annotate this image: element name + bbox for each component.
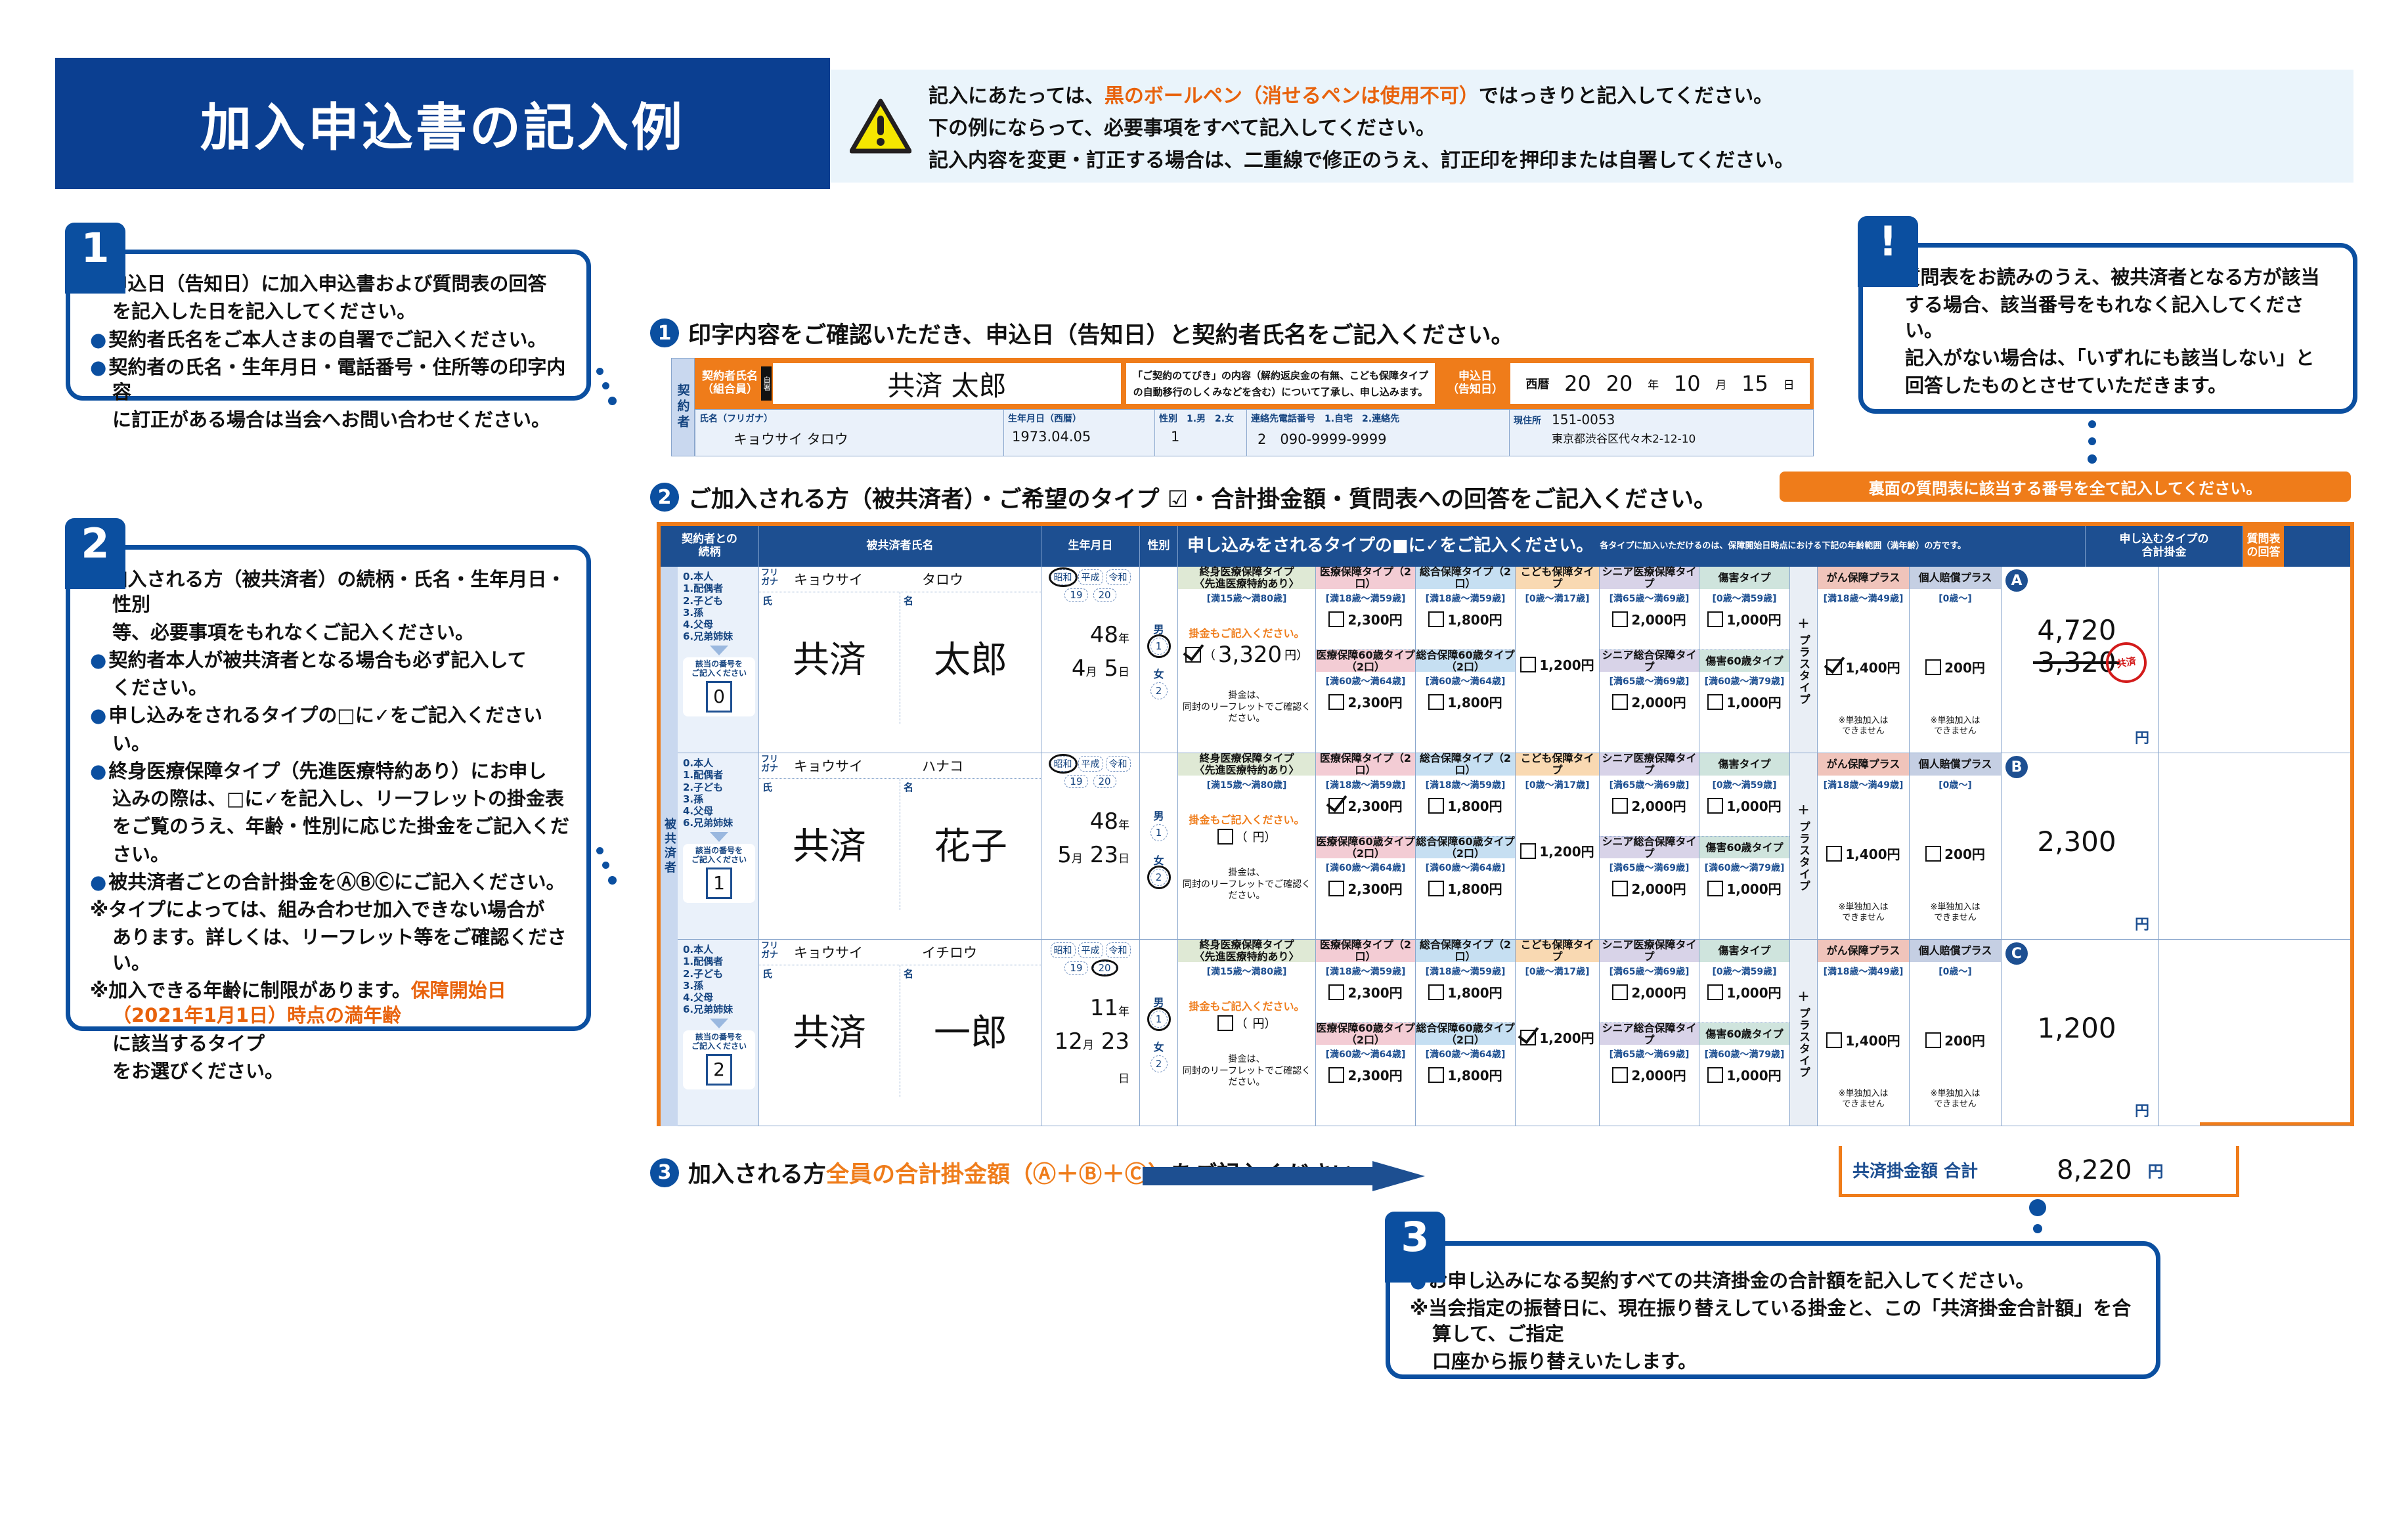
arrow-down-icon — [710, 1019, 728, 1028]
contractor-dob-label: 生年月日（西暦） — [1008, 412, 1150, 425]
row-badge: A — [2005, 569, 2028, 592]
premium-row[interactable]: 1,000円 — [1707, 609, 1781, 628]
type-column-個人賠償プラス[interactable]: 個人賠償プラス [0歳〜] 200円 ※単独加入はできません — [1910, 940, 2002, 1126]
table-row: 0.本人1.配偶者2.子ども3.孫4.父母6.兄弟姉妹 該当の番号を ご記入くだ… — [678, 940, 2350, 1126]
age-range: [満18歳〜満59歳] — [1426, 778, 1506, 791]
contractor-sex-label: 性別 1.男 2.女 — [1159, 412, 1242, 425]
premium-checkbox-60[interactable] — [1428, 694, 1444, 710]
section-1-number: 1 — [650, 318, 679, 347]
premium-checkbox-60[interactable] — [1428, 881, 1444, 896]
type-header-60: 総合保障60歳タイプ（2口） — [1416, 1022, 1515, 1045]
premium-row[interactable]: 2,000円 — [1612, 796, 1686, 815]
premium-amount: 2,000円 — [1631, 796, 1686, 815]
sex-cell[interactable]: 男 1 女 2 — [1140, 940, 1178, 1126]
premium-checkbox[interactable] — [1707, 984, 1723, 1000]
premium-checkbox[interactable] — [1428, 984, 1444, 1000]
premium-checkbox[interactable] — [1925, 659, 1941, 675]
premium-row-60[interactable]: 1,800円 — [1428, 692, 1502, 711]
shinshin-checkbox-row[interactable]: （ 3,320 円） — [1178, 642, 1315, 668]
premium-entry-note: 掛金もご記入ください。 — [1178, 811, 1315, 827]
premium-row[interactable]: 1,800円 — [1428, 796, 1502, 815]
premium-checkbox-60[interactable] — [1328, 694, 1344, 710]
age-range: [満18歳〜満59歳] — [1326, 778, 1406, 791]
callout-2-number: 2 — [65, 518, 125, 589]
given-name-label: 名 — [904, 780, 913, 794]
premium-row[interactable]: 2,300円 — [1328, 796, 1402, 815]
warning-triangle-icon — [850, 99, 911, 154]
premium-row[interactable]: 1,800円 — [1428, 609, 1502, 628]
type-upper: [満18歳〜満59歳] 1,800円 — [1416, 776, 1515, 836]
name-cell[interactable]: フリガナ キョウサイ イチロウ 氏 共済 名 一郎 — [759, 940, 1041, 1126]
relation-option-4: 4.父母 — [683, 619, 755, 630]
relation-caption-1: 該当の番号を — [686, 846, 753, 855]
era-option-平成[interactable]: 平成 — [1078, 942, 1103, 958]
type-column-シニア医療保障タイプ[interactable]: シニア医療保障タイプ [満65歳〜満69歳] 2,000円 シニア総合保障タイプ… — [1600, 567, 1699, 753]
shinshin-checkbox[interactable] — [1217, 829, 1233, 845]
premium-row[interactable]: 200円 — [1925, 844, 1985, 863]
premium-checkbox-60[interactable] — [1428, 1067, 1444, 1083]
premium-row[interactable]: 2,000円 — [1612, 609, 1686, 628]
surname-label: 氏 — [762, 594, 772, 607]
age-range-60: [満65歳〜満69歳] — [1609, 861, 1690, 874]
contractor-phone-label: 連絡先電話番号 1.自宅 2.連絡先 — [1251, 412, 1505, 425]
premium-amount: 2,000円 — [1631, 982, 1686, 1001]
single-join-note: ※単独加入はできません — [1839, 1089, 1889, 1113]
single-join-note: ※単独加入はできません — [1931, 1089, 1981, 1113]
section-3-heading-b: 全員の合計掛金額（Ⓐ＋Ⓑ＋Ⓒ） — [826, 1162, 1171, 1188]
grand-total-value: 8,220 — [2057, 1155, 2132, 1185]
premium-row-60[interactable]: 2,000円 — [1612, 692, 1686, 711]
row-total-handwritten: 1,200 — [2002, 1012, 2152, 1044]
apply-year-1: 20 — [1564, 371, 1591, 396]
premium-checkbox[interactable] — [1826, 659, 1842, 675]
callout-2-line-4: 申し込みをされるタイプの□に✓をご記入ください — [90, 703, 569, 728]
type-column-終身医療保障タイプ[interactable]: 終身医療保障タイプ〈先進医療特約あり〉 [満15歳〜満80歳] 掛金もご記入くだ… — [1178, 940, 1316, 1126]
plus-sign: ＋ — [1798, 988, 1810, 1005]
type-column-こども保障タイプ[interactable]: こども保障タイプ [0歳〜満17歳] 1,200円 — [1516, 753, 1600, 939]
premium-row-60[interactable]: 1,000円 — [1707, 692, 1781, 711]
year-prefix-options[interactable]: 1920 — [1045, 775, 1136, 788]
premium-amount-60: 2,300円 — [1347, 692, 1402, 711]
age-range: [0歳〜] — [1938, 778, 1972, 791]
age-range: [満18歳〜満49歳] — [1824, 965, 1904, 978]
grand-total-yen: 円 — [2148, 1158, 2164, 1181]
premium-row[interactable]: 200円 — [1925, 657, 1985, 676]
row-total-cell[interactable]: B 2,300円 — [2002, 753, 2159, 939]
kana-row: フリガナ キョウサイ イチロウ — [759, 940, 1041, 965]
era-option-平成[interactable]: 平成 — [1078, 756, 1103, 772]
premium-row[interactable]: 1,400円 — [1826, 844, 1900, 863]
row-total-cell[interactable]: C 1,200円 — [2002, 940, 2159, 1126]
consent-text-box: 「ご契約のてびき」の内容（解約返戻金の有無、こども保障タイプ の自動移行のしくみ… — [1126, 363, 1435, 404]
type-header-60: 傷害60歳タイプ — [1699, 836, 1789, 858]
callout-1-line-3: 契約者の氏名・生年月日・電話番号・住所等の印字内容 — [90, 355, 569, 405]
age-range: [0歳〜満17歳] — [1525, 778, 1589, 791]
page-title: 加入申込書の記入例 — [200, 87, 685, 160]
premium-amount: 1,800円 — [1447, 796, 1502, 815]
callout-3-line-0: お申し込みになる契約すべての共済掛金の合計額を記入してください。 — [1410, 1268, 2139, 1293]
apply-year-2: 20 — [1606, 371, 1633, 396]
premium-checkbox[interactable] — [1612, 984, 1628, 1000]
premium-entry-note: 掛金もご記入ください。 — [1178, 998, 1315, 1013]
section-2-heading-text: ご加入される方（被共済者）・ご希望のタイプ ☑・合計掛金額・質問表への回答をご記… — [688, 481, 1717, 514]
type-column-傷害タイプ[interactable]: 傷害タイプ [0歳〜満59歳] 1,000円 傷害60歳タイプ [満60歳〜満7… — [1699, 753, 1790, 939]
name-cell[interactable]: フリガナ キョウサイ タロウ 氏 共済 名 太郎 — [759, 567, 1041, 753]
age-range: [満18歳〜満59歳] — [1426, 965, 1506, 978]
type-column-こども保障タイプ[interactable]: こども保障タイプ [0歳〜満17歳] 1,200円 — [1516, 567, 1600, 753]
dob-cell[interactable]: 昭和平成令和 1920 11年 12月 23日 — [1041, 940, 1140, 1126]
sex-female-option[interactable]: 2 — [1150, 869, 1168, 886]
premium-row[interactable]: 200円 — [1925, 1030, 1985, 1049]
type-header-60: 総合保障60歳タイプ（2口） — [1416, 836, 1515, 858]
type-upper: [0歳〜満59歳] 1,000円 — [1699, 776, 1789, 836]
month-unit: 月 — [1715, 376, 1726, 392]
type-column-こども保障タイプ[interactable]: こども保障タイプ [0歳〜満17歳] 1,200円 — [1516, 940, 1600, 1126]
premium-checkbox[interactable] — [1707, 611, 1723, 627]
type-header: シニア医療保障タイプ — [1600, 567, 1699, 589]
premium-row[interactable]: 1,200円 — [1520, 841, 1594, 860]
era-options[interactable]: 昭和平成令和 — [1045, 756, 1136, 772]
type-column-シニア医療保障タイプ[interactable]: シニア医療保障タイプ [満65歳〜満69歳] 2,000円 シニア総合保障タイプ… — [1600, 940, 1699, 1126]
type-header: こども保障タイプ — [1516, 567, 1599, 589]
th-total: 申し込むタイプの合計掛金 — [2086, 526, 2243, 567]
era-option-令和[interactable]: 令和 — [1106, 942, 1131, 958]
type-lower: [満60歳〜満79歳] 1,000円 — [1699, 1045, 1789, 1126]
age-range: [0歳〜] — [1938, 592, 1972, 605]
surname-label: 氏 — [762, 967, 772, 980]
premium-row-60[interactable]: 1,800円 — [1428, 879, 1502, 898]
callout-3: 3 お申し込みになる契約すべての共済掛金の合計額を記入してください。 ※当会指定… — [1386, 1241, 2160, 1379]
premium-amount: 1,400円 — [1845, 657, 1900, 676]
type-column-終身医療保障タイプ[interactable]: 終身医療保障タイプ〈先進医療特約あり〉 [満15歳〜満80歳] 掛金もご記入くだ… — [1178, 567, 1316, 753]
year-prefix-19[interactable]: 19 — [1064, 775, 1087, 788]
given-name-field[interactable]: 名 太郎 — [900, 592, 1041, 724]
premium-checkbox-60[interactable] — [1707, 881, 1723, 896]
contractor-dob-cell: 生年月日（西暦） 1973.04.05 — [1004, 410, 1155, 456]
question-answer-cell[interactable] — [2159, 567, 2200, 753]
type-lower: [満60歳〜満79歳] 1,000円 — [1699, 858, 1789, 939]
type-body: [満18歳〜満49歳] 1,400円 ※単独加入はできません — [1818, 589, 1909, 753]
sex-cell[interactable]: 男 1 女 2 — [1140, 753, 1178, 939]
era-option-昭和[interactable]: 昭和 — [1051, 569, 1076, 585]
premium-checkbox[interactable] — [1328, 611, 1344, 627]
age-range: [0歳〜] — [1938, 965, 1972, 978]
premium-amount: 1,000円 — [1726, 982, 1781, 1001]
callout-2-line-10: 被共済者ごとの合計掛金をⒶⒷⒸにご記入ください。 — [90, 869, 569, 894]
premium-row-60[interactable]: 2,300円 — [1328, 879, 1402, 898]
premium-amount-60: 1,000円 — [1726, 1065, 1781, 1084]
premium-amount-60: 2,300円 — [1347, 879, 1402, 898]
year-prefix-19[interactable]: 19 — [1064, 961, 1087, 975]
row-total-cell[interactable]: A 4,720 3,320 共済 円 — [2002, 567, 2159, 753]
shinshin-footnote: 掛金は、同封のリーフレットでご確認ください。 — [1178, 867, 1315, 902]
type-column-がん保障プラス[interactable]: がん保障プラス [満18歳〜満49歳] 1,400円 ※単独加入はできません — [1818, 753, 1910, 939]
year-prefix-options[interactable]: 1920 — [1045, 961, 1136, 975]
paren-right: 円） — [1253, 828, 1277, 845]
premium-checkbox[interactable] — [1520, 657, 1536, 672]
year-prefix-20[interactable]: 20 — [1093, 775, 1116, 788]
shinshin-checkbox[interactable] — [1217, 1015, 1233, 1031]
sex-female-option[interactable]: 2 — [1150, 1055, 1168, 1072]
contractor-phone-cell: 連絡先電話番号 1.自宅 2.連絡先 2 090-9999-9999 — [1247, 410, 1510, 456]
premium-amount: 2,300円 — [1347, 796, 1402, 815]
callout-1: 1 申込日（告知日）に加入申込書および質問表の回答 を記入した日を記入してくださ… — [66, 250, 591, 401]
era-options[interactable]: 昭和平成令和 — [1045, 569, 1136, 585]
era-options[interactable]: 昭和平成令和 — [1045, 942, 1136, 958]
surname-field[interactable]: 氏 共済 — [759, 779, 900, 910]
premium-row[interactable]: 2,300円 — [1328, 982, 1402, 1001]
sex-female-label: 女 — [1153, 1038, 1164, 1054]
type-column-がん保障プラス[interactable]: がん保障プラス [満18歳〜満49歳] 1,400円 ※単独加入はできません — [1818, 940, 1910, 1126]
type-body: [0歳〜] 200円 ※単独加入はできません — [1910, 589, 2001, 753]
type-column-総合保障タイプ（2口）[interactable]: 総合保障タイプ（2口） [満18歳〜満59歳] 1,800円 総合保障60歳タイ… — [1416, 567, 1516, 753]
premium-checkbox[interactable] — [1612, 798, 1628, 814]
callout-2-line-11: ※タイプによっては、組み合わせ加入できない場合が — [90, 897, 569, 922]
type-header-60: シニア総合保障タイプ — [1600, 836, 1699, 858]
relation-cell: 0.本人1.配偶者2.子ども3.孫4.父母6.兄弟姉妹 該当の番号を ご記入くだ… — [678, 753, 759, 939]
premium-checkbox[interactable] — [1925, 846, 1941, 862]
premium-row-60[interactable]: 2,300円 — [1328, 1065, 1402, 1084]
sex-male-option[interactable]: 1 — [1150, 638, 1168, 655]
dob-handwritten: 48年 4月 5日 — [1045, 619, 1136, 686]
type-column-総合保障タイプ（2口）[interactable]: 総合保障タイプ（2口） [満18歳〜満59歳] 1,800円 総合保障60歳タイ… — [1416, 940, 1516, 1126]
sex-male-option[interactable]: 1 — [1150, 824, 1168, 841]
row-total-yen: 円 — [2135, 726, 2149, 747]
type-body: [0歳〜満17歳] 1,200円 — [1516, 776, 1599, 939]
kana-row: フリガナ キョウサイ ハナコ — [759, 753, 1041, 779]
type-column-個人賠償プラス[interactable]: 個人賠償プラス [0歳〜] 200円 ※単独加入はできません — [1910, 567, 2002, 753]
dob-cell[interactable]: 昭和平成令和 1920 48年 5月 23日 — [1041, 753, 1140, 939]
premium-amount: 2,000円 — [1631, 609, 1686, 628]
plus-type-label: プラスタイプ — [1795, 1007, 1812, 1078]
given-name-field[interactable]: 名 花子 — [900, 779, 1041, 910]
premium-checkbox[interactable] — [1612, 611, 1628, 627]
callout-2-line-8: をご覧のうえ、年齢・性別に応じた掛金をご記入くだ — [90, 814, 569, 839]
sex-female-option[interactable]: 2 — [1150, 682, 1168, 699]
dob-cell[interactable]: 昭和平成令和 1920 48年 4月 5日 — [1041, 567, 1140, 753]
type-body: [満18歳〜満49歳] 1,400円 ※単独加入はできません — [1818, 776, 1909, 939]
premium-row-60[interactable]: 2,300円 — [1328, 692, 1402, 711]
relation-option-5: 6.兄弟姉妹 — [683, 1003, 755, 1015]
single-join-note: ※単独加入はできません — [1931, 902, 1981, 927]
type-header-60: 総合保障60歳タイプ（2口） — [1416, 649, 1515, 672]
type-column-終身医療保障タイプ[interactable]: 終身医療保障タイプ〈先進医療特約あり〉 [満15歳〜満80歳] 掛金もご記入くだ… — [1178, 753, 1316, 939]
contractor-upper-row: 契約者氏名 （組合員） 自署 共済 太郎 「ご契約のてびき」の内容（解約返戻金の… — [695, 358, 1814, 409]
plus-sign: ＋ — [1798, 615, 1810, 632]
relation-option-4: 4.父母 — [683, 992, 755, 1003]
relation-caption-2: ご記入ください — [686, 1042, 753, 1051]
premium-checkbox[interactable] — [1520, 843, 1536, 859]
warning-band: 記入にあたっては、黒のボールペン（消せるペンは使用不可）ではっきりと記入してくだ… — [830, 70, 2353, 183]
shinshin-footnote: 掛金は、同封のリーフレットでご確認ください。 — [1178, 1054, 1315, 1089]
relation-option-2: 2.子ども — [683, 595, 755, 607]
surname-field[interactable]: 氏 共済 — [759, 592, 900, 724]
premium-row[interactable]: 1,000円 — [1707, 796, 1781, 815]
surname-value: 共済 — [759, 630, 900, 684]
type-column-傷害タイプ[interactable]: 傷害タイプ [0歳〜満59歳] 1,000円 傷害60歳タイプ [満60歳〜満7… — [1699, 940, 1790, 1126]
type-upper: [0歳〜満59歳] 1,000円 — [1699, 589, 1789, 649]
premium-amount-60: 2,300円 — [1347, 1065, 1402, 1084]
warn-l2: 下の例にならって、必要事項をすべて記入してください。 — [929, 112, 1794, 141]
premium-checkbox-60[interactable] — [1612, 1067, 1628, 1083]
premium-amount: 1,200円 — [1539, 655, 1594, 674]
birth-month-value: 12 — [1055, 1028, 1083, 1055]
sex-male-option[interactable]: 1 — [1150, 1011, 1168, 1028]
arrow-down-icon — [710, 832, 728, 842]
premium-checkbox[interactable] — [1925, 1032, 1941, 1048]
table-header-row: 契約者との続柄 被共済者氏名 生年月日 性別 申し込みをされるタイプの■に✓をご… — [661, 526, 2350, 567]
contractor-address-value: 東京都渋谷区代々木2-12-10 — [1552, 429, 1696, 446]
premium-checkbox-60[interactable] — [1612, 694, 1628, 710]
contractor-kana-label: 氏名（フリガナ） — [699, 412, 999, 425]
age-range-60: [満60歳〜満79歳] — [1705, 861, 1785, 874]
type-column-個人賠償プラス[interactable]: 個人賠償プラス [0歳〜] 200円 ※単独加入はできません — [1910, 753, 2002, 939]
type-column-総合保障タイプ（2口）[interactable]: 総合保障タイプ（2口） [満18歳〜満59歳] 1,800円 総合保障60歳タイ… — [1416, 753, 1516, 939]
premium-row[interactable]: 1,200円 — [1520, 1028, 1594, 1047]
type-header: 総合保障タイプ（2口） — [1416, 940, 1515, 962]
premium-checkbox[interactable] — [1328, 984, 1344, 1000]
era-option-昭和[interactable]: 昭和 — [1051, 756, 1076, 772]
relation-option-3: 3.孫 — [683, 607, 755, 619]
callout-2-line-1: 等、必要事項をもれなくご記入ください。 — [90, 620, 569, 645]
premium-checkbox[interactable] — [1826, 1032, 1842, 1048]
premium-row[interactable]: 1,400円 — [1826, 657, 1900, 676]
birth-year-value: 48 — [1090, 808, 1118, 835]
single-join-note: ※単独加入はできません — [1839, 902, 1889, 927]
premium-row[interactable]: 2,300円 — [1328, 609, 1402, 628]
premium-checkbox-60[interactable] — [1328, 881, 1344, 896]
premium-amount: 1,400円 — [1845, 844, 1900, 863]
premium-checkbox[interactable] — [1428, 611, 1444, 627]
age-range: [満18歳〜満59歳] — [1326, 592, 1406, 605]
contractor-side-label: 契約者 — [671, 358, 695, 456]
callout-1-number: 1 — [65, 223, 125, 294]
era-option-令和[interactable]: 令和 — [1106, 756, 1131, 772]
shinshin-checkbox[interactable] — [1185, 647, 1201, 663]
relation-option-1: 1.配偶者 — [683, 582, 755, 594]
premium-amount: 200円 — [1944, 657, 1985, 676]
table-row: 0.本人1.配偶者2.子ども3.孫4.父母6.兄弟姉妹 該当の番号を ご記入くだ… — [678, 567, 2350, 753]
type-header: がん保障プラス — [1818, 753, 1909, 776]
question-answer-cell[interactable] — [2159, 940, 2200, 1126]
year-prefix-20[interactable]: 20 — [1093, 588, 1116, 602]
relation-input-box[interactable]: 該当の番号を ご記入ください 1 — [683, 844, 755, 903]
callout-2-line-12: あります。詳しくは、リーフレット等をご確認ください。 — [90, 925, 569, 975]
premium-checkbox-60[interactable] — [1328, 1067, 1344, 1083]
question-answer-cell[interactable] — [2159, 753, 2200, 939]
type-body: [0歳〜] 200円 ※単独加入はできません — [1910, 776, 2001, 939]
section-1-heading-text: 印字内容をご確認いただき、申込日（告知日）と契約者氏名をご記入ください。 — [688, 317, 1514, 350]
premium-amount-60: 1,800円 — [1447, 879, 1502, 898]
row-total-handwritten: 4,720 3,320 共済 — [2002, 614, 2152, 678]
year-prefix-options[interactable]: 1920 — [1045, 588, 1136, 602]
year-prefix-20[interactable]: 20 — [1093, 961, 1116, 975]
type-column-傷害タイプ[interactable]: 傷害タイプ [0歳〜満59歳] 1,000円 傷害60歳タイプ [満60歳〜満7… — [1699, 567, 1790, 753]
premium-row[interactable]: 2,000円 — [1612, 982, 1686, 1001]
contractor-signature-value: 共済 太郎 — [887, 364, 1006, 404]
era-option-昭和[interactable]: 昭和 — [1051, 942, 1076, 958]
year-prefix-19[interactable]: 19 — [1064, 588, 1087, 602]
type-column-医療保障タイプ（2口）[interactable]: 医療保障タイプ（2口） [満18歳〜満59歳] 2,300円 医療保障60歳タイ… — [1316, 753, 1416, 939]
shinshin-checkbox-row[interactable]: （ 円） — [1178, 828, 1315, 845]
premium-row[interactable]: 1,400円 — [1826, 1030, 1900, 1049]
premium-row-60[interactable]: 1,000円 — [1707, 879, 1781, 898]
sex-cell[interactable]: 男 1 女 2 — [1140, 567, 1178, 753]
type-upper: [満65歳〜満69歳] 2,000円 — [1600, 962, 1699, 1022]
given-name-field[interactable]: 名 一郎 — [900, 965, 1041, 1097]
birth-day-value: 23 — [1090, 842, 1118, 868]
type-column-がん保障プラス[interactable]: がん保障プラス [満18歳〜満49歳] 1,400円 ※単独加入はできません — [1818, 567, 1910, 753]
age-range-60: [満60歳〜満64歳] — [1426, 1047, 1506, 1061]
premium-amount-60: 1,800円 — [1447, 692, 1502, 711]
relation-option-3: 3.孫 — [683, 793, 755, 805]
premium-row-60[interactable]: 1,000円 — [1707, 1065, 1781, 1084]
type-header: 終身医療保障タイプ〈先進医療特約あり〉 — [1178, 940, 1315, 962]
apply-date-field[interactable]: 西暦 20 20 年 10 月 15 日 — [1510, 363, 1810, 404]
relation-input-box[interactable]: 該当の番号を ご記入ください 0 — [683, 657, 755, 716]
contractor-signature-field[interactable]: 共済 太郎 — [773, 363, 1121, 404]
premium-row[interactable]: 1,800円 — [1428, 982, 1502, 1001]
surname-field[interactable]: 氏 共済 — [759, 965, 900, 1097]
title-band: 加入申込書の記入例 — [55, 58, 830, 189]
type-column-シニア医療保障タイプ[interactable]: シニア医療保障タイプ [満65歳〜満69歳] 2,000円 シニア総合保障タイプ… — [1600, 753, 1699, 939]
contractor-block: 契約者 契約者氏名 （組合員） 自署 共済 太郎 「ご契約のてびき」の内容（解約… — [671, 358, 1814, 456]
type-header: 終身医療保障タイプ〈先進医療特約あり〉 — [1178, 753, 1315, 776]
premium-row-60[interactable]: 1,800円 — [1428, 1065, 1502, 1084]
type-column-医療保障タイプ（2口）[interactable]: 医療保障タイプ（2口） [満18歳〜満59歳] 2,300円 医療保障60歳タイ… — [1316, 567, 1416, 753]
type-header: 終身医療保障タイプ〈先進医療特約あり〉 — [1178, 567, 1315, 589]
premium-checkbox[interactable] — [1520, 1030, 1536, 1045]
era-option-平成[interactable]: 平成 — [1078, 569, 1103, 585]
relation-input-box[interactable]: 該当の番号を ご記入ください 2 — [683, 1030, 755, 1089]
sex-male-label: 男 — [1153, 994, 1164, 1009]
name-cell[interactable]: フリガナ キョウサイ ハナコ 氏 共済 名 花子 — [759, 753, 1041, 939]
premium-row-60[interactable]: 2,000円 — [1612, 1065, 1686, 1084]
th-types: 申し込みをされるタイプの■に✓をご記入ください。 各タイプに加入いただけるのは、… — [1178, 526, 2086, 567]
premium-checkbox[interactable] — [1826, 846, 1842, 862]
premium-checkbox-60[interactable] — [1707, 1067, 1723, 1083]
given-name-label: 名 — [904, 594, 913, 607]
age-range-60: [満65歳〜満69歳] — [1609, 1047, 1690, 1061]
grand-total-box: 共済掛金額 合計 8,220 円 — [1839, 1146, 2239, 1197]
age-range: [満15歳〜満80歳] — [1207, 778, 1287, 791]
row-total-corrected: 4,720 — [2002, 614, 2152, 646]
premium-checkbox[interactable] — [1428, 798, 1444, 814]
era-option-令和[interactable]: 令和 — [1106, 569, 1131, 585]
birth-year-value: 11 — [1090, 995, 1118, 1021]
premium-checkbox[interactable] — [1707, 798, 1723, 814]
given-name-value: 太郎 — [900, 630, 1041, 684]
premium-checkbox-60[interactable] — [1612, 881, 1628, 896]
self-signature-label: 自署 — [761, 366, 772, 401]
year-unit: 年 — [1648, 376, 1659, 392]
shinshin-checkbox-row[interactable]: （ 円） — [1178, 1015, 1315, 1032]
type-header-60: 傷害60歳タイプ — [1699, 649, 1789, 672]
premium-checkbox[interactable] — [1328, 798, 1344, 814]
th-dob: 生年月日 — [1041, 526, 1140, 567]
premium-row[interactable]: 1,000円 — [1707, 982, 1781, 1001]
callout-3-line-2: 口座から振り替えいたします。 — [1410, 1349, 2139, 1374]
relation-cell: 0.本人1.配偶者2.子ども3.孫4.父母6.兄弟姉妹 該当の番号を ご記入くだ… — [678, 567, 759, 753]
contractor-address-label: 現住所 — [1514, 412, 1541, 454]
shinshin-body: [満15歳〜満80歳] 掛金もご記入ください。 （ 円） 掛金は、同封のリーフレ… — [1178, 776, 1315, 939]
type-column-医療保障タイプ（2口）[interactable]: 医療保障タイプ（2口） [満18歳〜満59歳] 2,300円 医療保障60歳タイ… — [1316, 940, 1416, 1126]
premium-checkbox-60[interactable] — [1707, 694, 1723, 710]
premium-row-60[interactable]: 2,000円 — [1612, 879, 1686, 898]
premium-row[interactable]: 1,200円 — [1520, 655, 1594, 674]
warn-l1a: 記入にあたっては、 — [929, 85, 1105, 108]
plus-type-label: プラスタイプ — [1795, 821, 1812, 892]
